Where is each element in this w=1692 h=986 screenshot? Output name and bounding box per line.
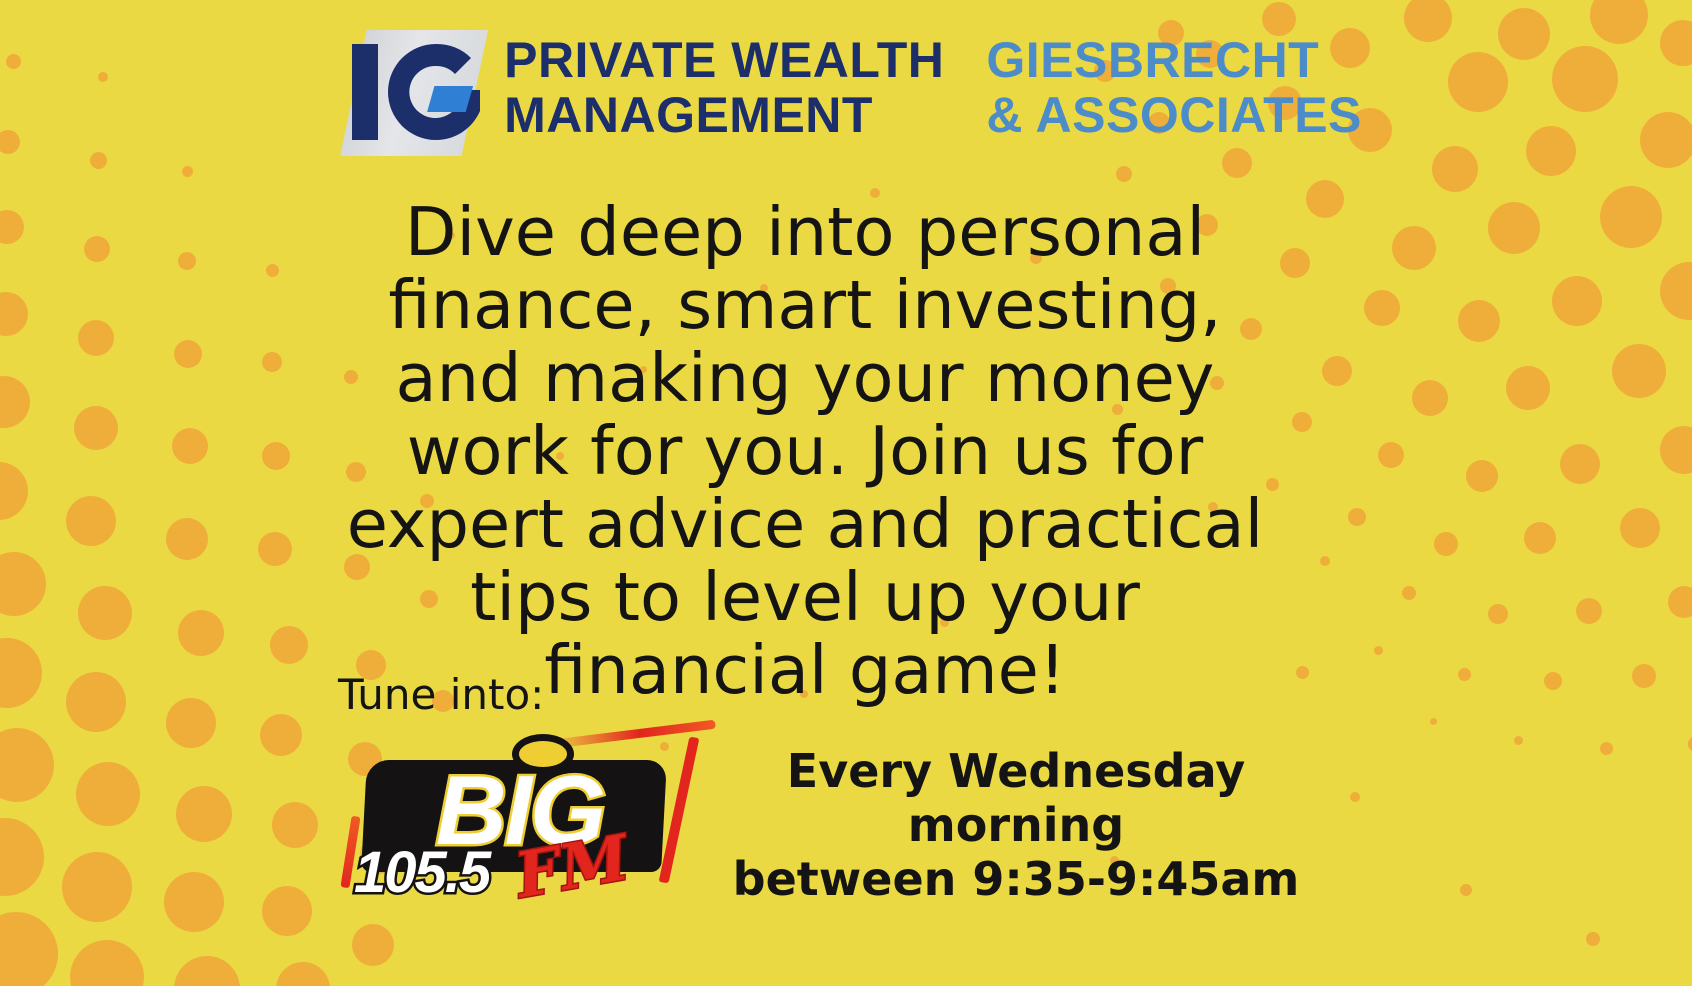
associate-line-2: & ASSOCIATES xyxy=(986,90,1361,140)
tune-into-label: Tune into: xyxy=(338,672,544,718)
schedule-line-1: Every Wednesday morning xyxy=(716,744,1316,852)
wordmark-line-2: MANAGEMENT xyxy=(504,90,944,140)
associate-line-1: GIESBRECHT xyxy=(986,35,1361,85)
station-band-text: FM xyxy=(511,827,633,908)
headline-text: Dive deep into personal finance, smart i… xyxy=(320,196,1290,707)
ig-accent-bar xyxy=(427,86,473,112)
ig-letters-svg xyxy=(330,18,498,156)
schedule-line-2: between 9:35-9:45am xyxy=(716,852,1316,906)
ig-monogram-icon xyxy=(330,18,498,156)
broadcast-schedule: Every Wednesday morning between 9:35-9:4… xyxy=(716,744,1316,906)
promo-poster: PRIVATE WEALTH MANAGEMENT GIESBRECHT & A… xyxy=(0,0,1692,986)
wordmark-line-1: PRIVATE WEALTH xyxy=(504,35,944,85)
station-frequency-text: 105.5 xyxy=(354,844,489,902)
associate-name: GIESBRECHT & ASSOCIATES xyxy=(986,35,1361,140)
big-1055-fm-radio-logo-icon: BIG 105.5 FM xyxy=(340,718,710,898)
ig-wordmark: PRIVATE WEALTH MANAGEMENT xyxy=(504,35,944,140)
brand-logo-bar: PRIVATE WEALTH MANAGEMENT GIESBRECHT & A… xyxy=(0,18,1692,156)
